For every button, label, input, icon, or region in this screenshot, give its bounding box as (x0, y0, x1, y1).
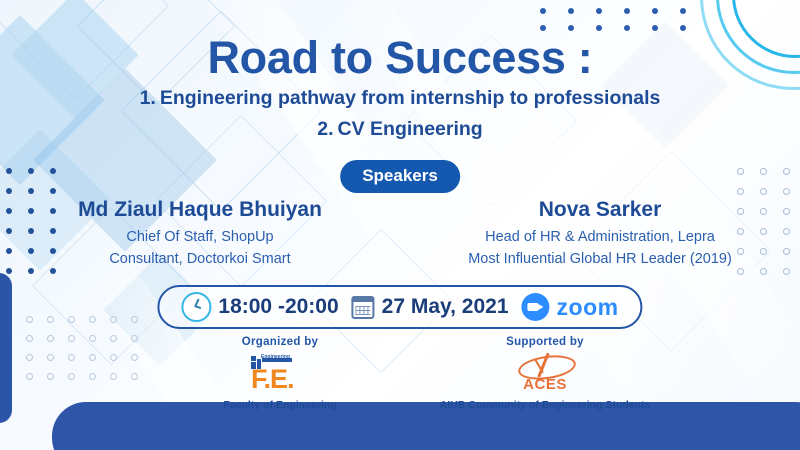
date-item: 27 May, 2021 (352, 295, 509, 319)
fe-logo-letters: F.E. (251, 366, 294, 393)
speaker-card-1: Md Ziaul Haque Bhuiyan Chief Of Staff, S… (0, 198, 400, 271)
subtitle-1-text: Engineering pathway from internship to p… (160, 87, 661, 109)
time-item: 18:00 -20:00 (181, 292, 338, 322)
subtitle-2-number: 2. (317, 118, 333, 140)
aces-logo-text: ACES (512, 376, 578, 393)
zoom-camera-icon (522, 293, 550, 321)
fe-logo-slot: Engineering F.E. (180, 351, 380, 397)
speaker-1-role-2: Consultant, Doctorkoi Smart (0, 249, 400, 271)
poster-content: Road to Success : 1.Engineering pathway … (0, 0, 800, 450)
platform-item[interactable]: zoom (522, 293, 619, 321)
supported-by-label: Supported by (420, 336, 670, 348)
subtitle-line-2: 2.CV Engineering (0, 118, 800, 141)
speakers-badge: Speakers (340, 160, 460, 193)
event-poster: Road to Success : 1.Engineering pathway … (0, 0, 800, 450)
aces-logo-icon: ACES (512, 352, 578, 396)
organized-by-caption: Faculty of Engineering (180, 399, 380, 411)
subtitle-2-text: CV Engineering (338, 118, 483, 140)
event-time: 18:00 -20:00 (218, 295, 338, 319)
speakers-section: Md Ziaul Haque Bhuiyan Chief Of Staff, S… (0, 198, 800, 271)
speaker-1-name: Md Ziaul Haque Bhuiyan (0, 198, 400, 222)
faculty-of-engineering-logo-icon: Engineering F.E. (249, 352, 311, 396)
speaker-1-role-1: Chief Of Staff, ShopUp (0, 227, 400, 249)
calendar-icon (352, 296, 375, 319)
clock-icon (181, 292, 211, 322)
supported-by-block: Supported by ACES AIUB Community of Engi… (420, 336, 670, 411)
event-date: 27 May, 2021 (382, 295, 509, 319)
fe-logo-word: Engineering (261, 354, 290, 360)
speaker-2-role-2: Most Influential Global HR Leader (2019) (400, 249, 800, 271)
subtitle-line-1: 1.Engineering pathway from internship to… (0, 87, 800, 110)
organized-by-block: Organized by Engineering F.E. Faculty of… (180, 336, 380, 411)
supported-by-caption: AIUB Community of Engineering Students (420, 399, 670, 411)
page-title: Road to Success : (0, 32, 800, 84)
speaker-card-2: Nova Sarker Head of HR & Administration,… (400, 198, 800, 271)
aces-logo-slot: ACES (420, 351, 670, 397)
subtitle-1-number: 1. (140, 87, 156, 109)
event-info-bar: 18:00 -20:00 27 May, 2021 zoom (157, 285, 642, 329)
speaker-2-name: Nova Sarker (400, 198, 800, 222)
speaker-2-role-1: Head of HR & Administration, Lepra (400, 227, 800, 249)
organized-by-label: Organized by (180, 336, 380, 348)
platform-name: zoom (557, 294, 619, 321)
